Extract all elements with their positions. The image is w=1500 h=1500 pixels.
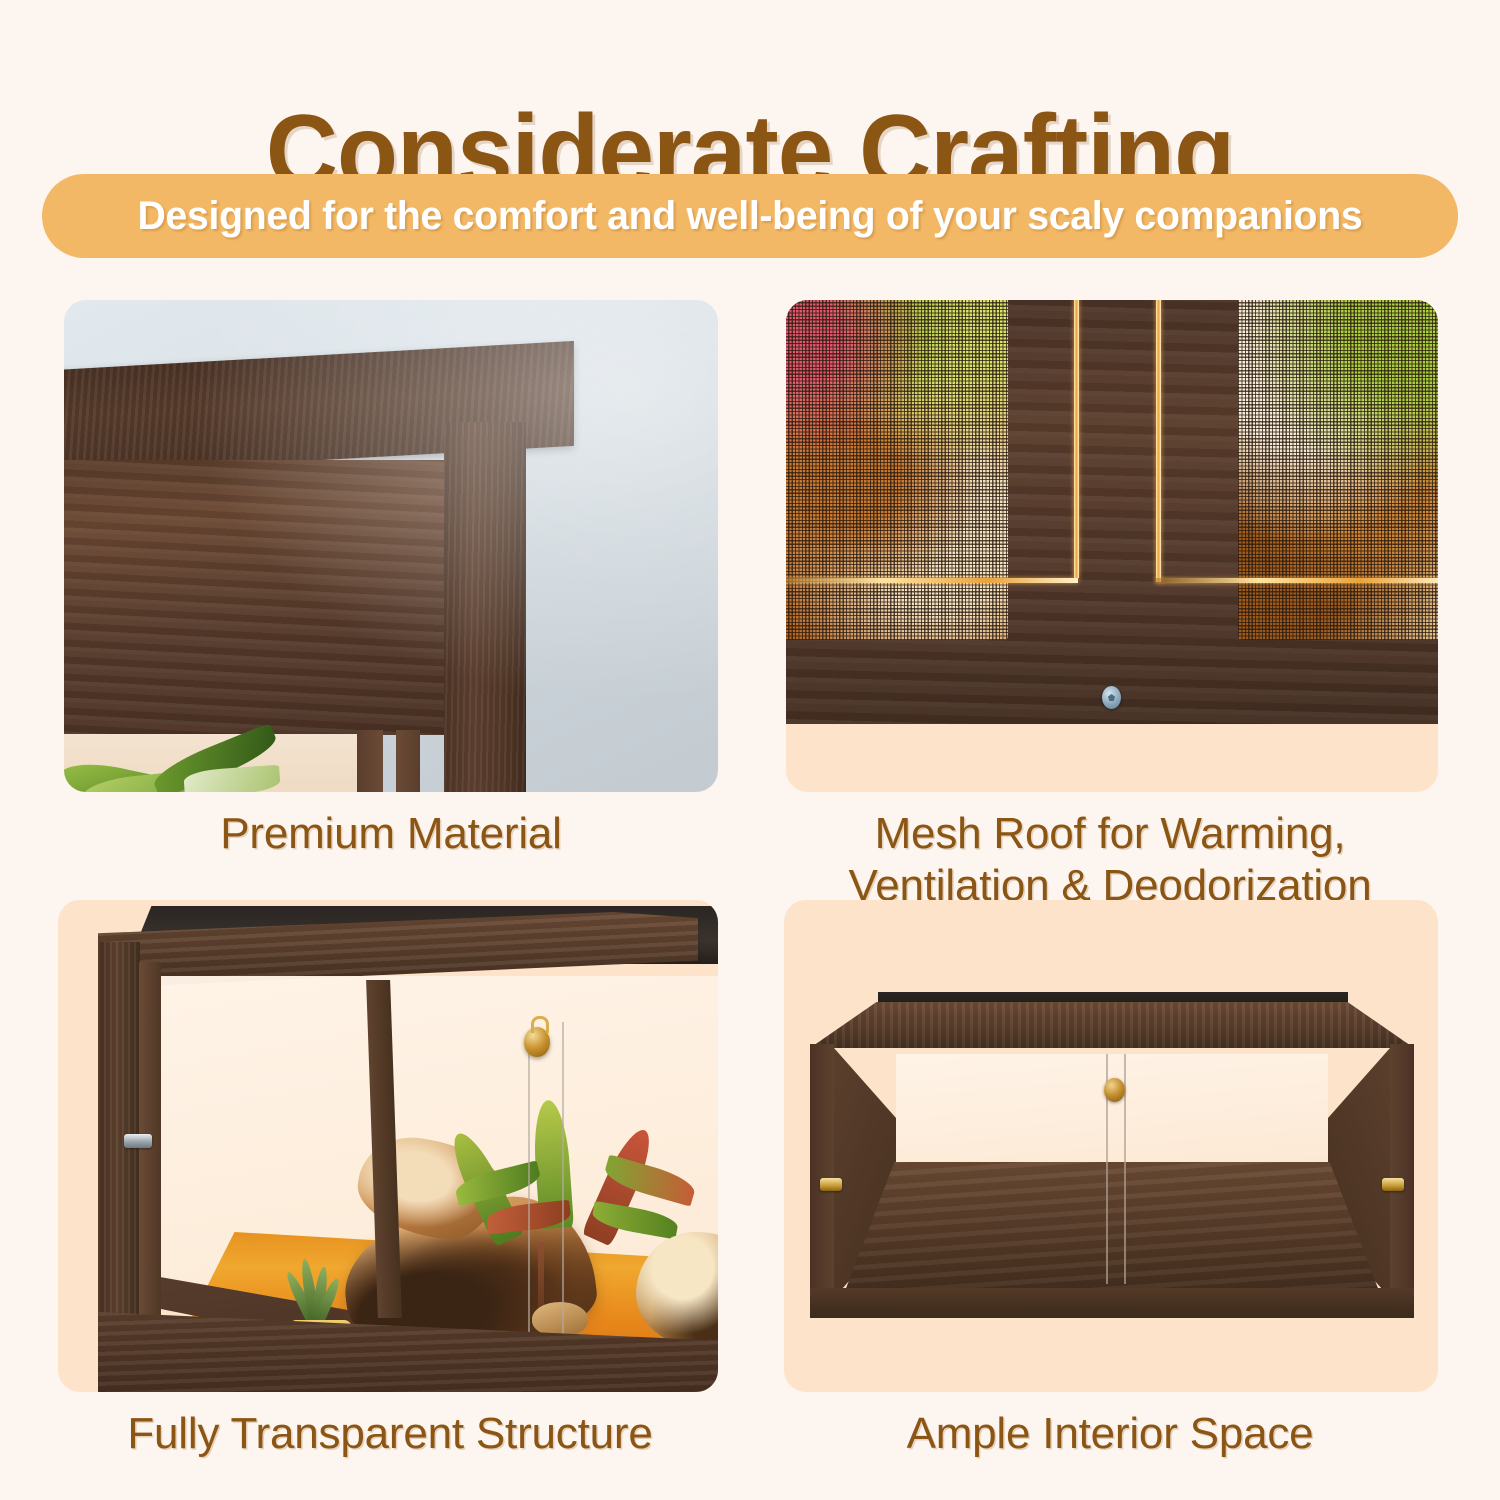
mesh-roof-photo [786,300,1438,792]
gold-light-seam-horizontal [1156,578,1438,583]
gold-light-seam-horizontal [786,578,1078,583]
gold-light-seam-vertical [1074,300,1079,578]
panel-background-fill [786,724,1438,792]
wood-interior-floor [840,1162,1384,1304]
wood-left-post [98,942,140,1370]
glass-front-panel [896,1054,1328,1179]
door-knob-left [124,1134,152,1148]
terrarium-illustration [76,902,718,1392]
ample-interior-photo [784,900,1438,1392]
premium-material-photo [64,300,718,792]
wood-top-frame [810,1002,1414,1048]
wood-inner-bar-right [396,730,420,792]
transparent-structure-photo [58,900,718,1392]
caption-fully-transparent-structure: Fully Transparent Structure [40,1408,740,1460]
lock-icon [524,1027,550,1057]
feature-image-ample-interior-space [784,900,1438,1392]
feature-image-premium-material [64,300,718,792]
glass-door-seam [562,1022,564,1360]
caption-ample-interior-space: Ample Interior Space [780,1408,1440,1460]
caption-mesh-roof: Mesh Roof for Warming, Ventilation & Deo… [760,808,1460,912]
door-knob-right [1382,1178,1404,1191]
mesh-grid-texture [786,300,1008,640]
lock-icon [1104,1078,1125,1102]
wood-front-face [64,460,446,735]
caption-premium-material: Premium Material [64,808,718,860]
subtitle-text: Designed for the comfort and well-being … [138,194,1363,239]
mesh-screen-panel-left [786,300,1008,640]
terrarium-illustration [810,992,1414,1302]
wood-left-post [810,1044,834,1302]
feature-image-mesh-roof [786,300,1438,792]
wood-corner-post [444,422,526,792]
feature-image-fully-transparent-structure [58,900,718,1392]
wood-inner-bar-left [357,730,383,792]
pebble-decor [532,1302,588,1336]
caption-line: Mesh Roof for Warming, [875,809,1346,858]
artificial-plant-decor [454,1100,684,1270]
caption-line: Premium Material [220,809,562,858]
mesh-grid-texture [1238,300,1438,640]
caption-line: Fully Transparent Structure [127,1409,652,1458]
caption-line: Ample Interior Space [907,1409,1314,1458]
glass-door-seam [528,1042,530,1360]
screw-icon [1102,686,1121,709]
wood-bottom-rail [810,1288,1414,1318]
wood-inner-post [139,962,161,1358]
wood-right-post [1390,1044,1414,1302]
mesh-screen-panel-right [1238,300,1438,640]
subtitle-banner: Designed for the comfort and well-being … [42,174,1458,258]
door-knob-left [820,1178,842,1191]
gold-light-seam-vertical [1156,300,1161,582]
